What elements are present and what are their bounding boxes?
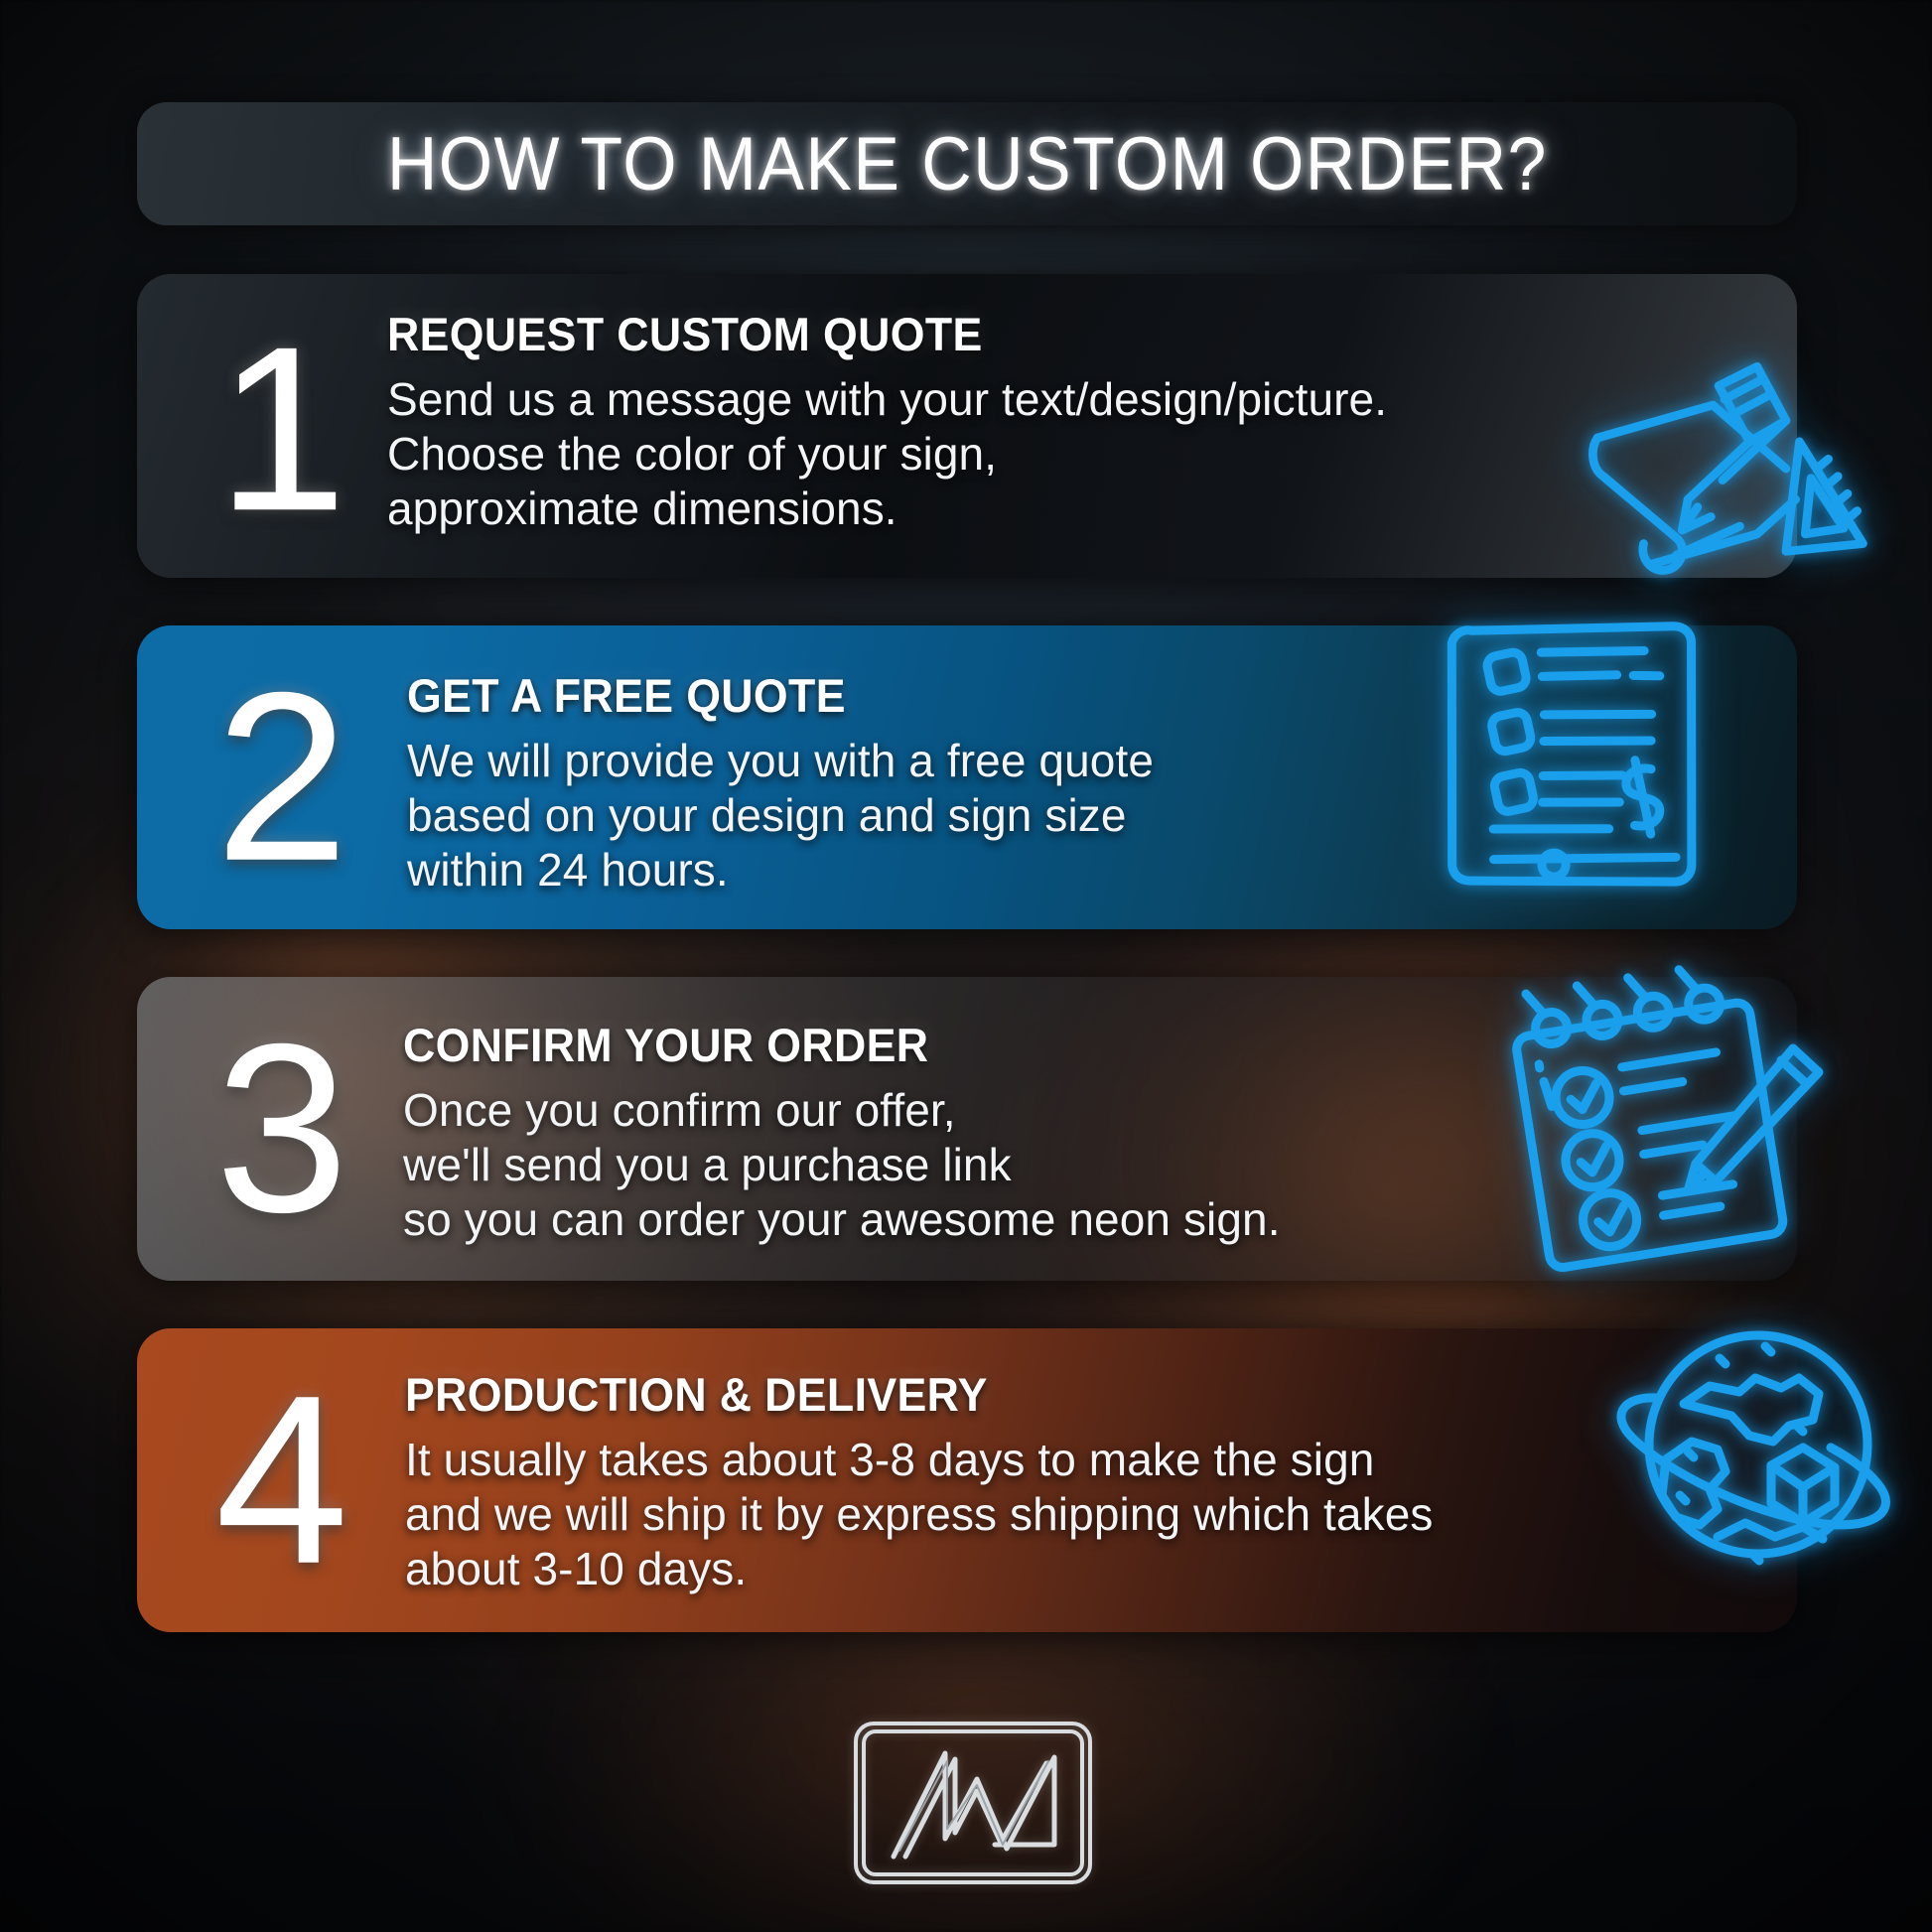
step-1-line-3: approximate dimensions. [387, 482, 1737, 536]
page-title-bar: HOW TO MAKE CUSTOM ORDER? [137, 102, 1797, 225]
blueprint-pencil-ruler-icon [1569, 345, 1876, 623]
step-title-1: REQUEST CUSTOM QUOTE [387, 310, 1670, 360]
step-text-4: PRODUCTION & DELIVERY It usually takes a… [405, 1370, 1737, 1596]
step-title-3: CONFIRM YOUR ORDER [403, 1021, 1671, 1071]
step-4-line-3: about 3-10 days. [405, 1542, 1737, 1596]
step-number-2: 2 [183, 679, 381, 876]
step-body-4: It usually takes about 3-8 days to make … [405, 1433, 1737, 1597]
step-number-3: 3 [183, 1031, 381, 1227]
step-1-line-2: Choose the color of your sign, [387, 427, 1737, 482]
step-card-1: 1 REQUEST CUSTOM QUOTE Send us a message… [137, 274, 1797, 578]
neon-monogram-logo [850, 1718, 1096, 1888]
step-number-1: 1 [183, 334, 381, 526]
step-body-1: Send us a message with your text/design/… [387, 372, 1737, 537]
page-title: HOW TO MAKE CUSTOM ORDER? [387, 121, 1548, 207]
globe-shipping-icon [1614, 1301, 1902, 1588]
step-4-line-1: It usually takes about 3-8 days to make … [405, 1433, 1737, 1487]
step-card-4: 4 PRODUCTION & DELIVERY It usually takes… [137, 1328, 1797, 1632]
invoice-document-icon [1422, 588, 1749, 915]
step-text-1: REQUEST CUSTOM QUOTE Send us a message w… [387, 310, 1737, 536]
checklist-notepad-pencil-icon [1509, 961, 1837, 1289]
step-number-4: 4 [183, 1382, 381, 1579]
infographic-canvas: HOW TO MAKE CUSTOM ORDER? 1 REQUEST CUST… [0, 0, 1932, 1932]
step-title-4: PRODUCTION & DELIVERY [405, 1370, 1671, 1421]
step-1-line-1: Send us a message with your text/design/… [387, 372, 1737, 427]
step-4-line-2: and we will ship it by express shipping … [405, 1487, 1737, 1542]
